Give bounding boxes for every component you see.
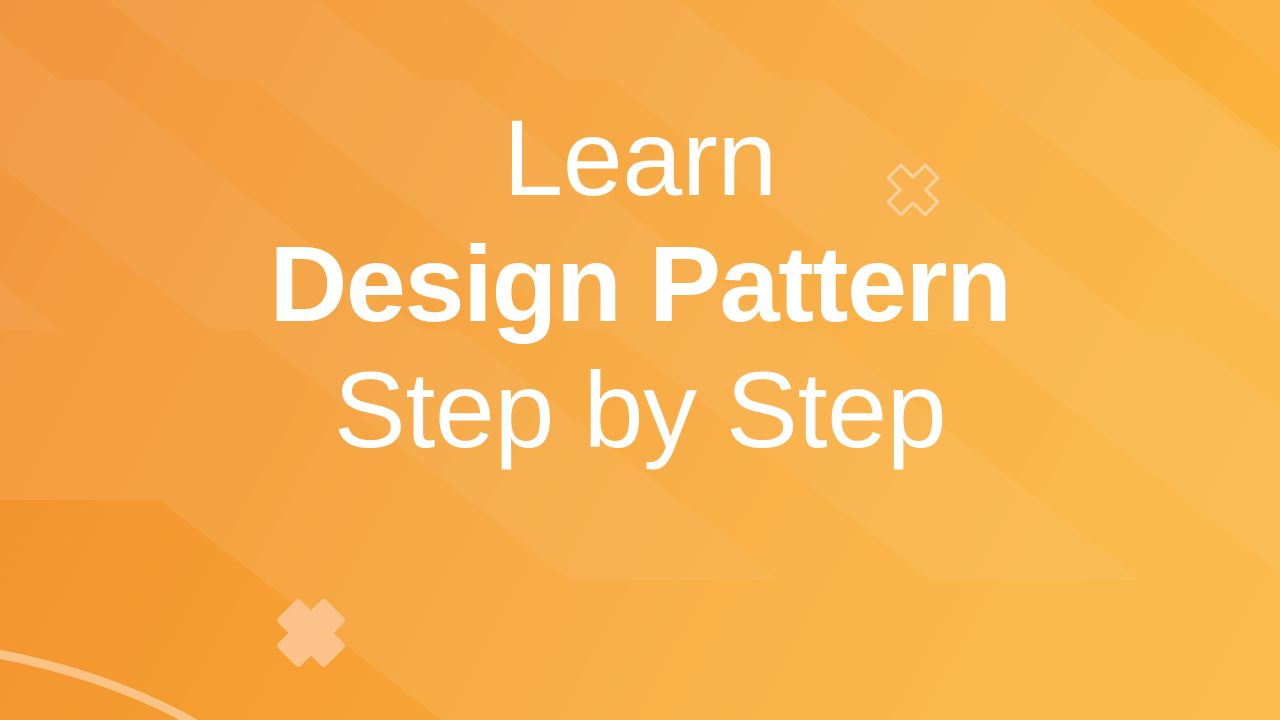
headline-block: Learn Design Pattern Step by Step <box>0 104 1280 464</box>
cross-x-filled-icon <box>272 594 350 672</box>
arc-curve-decoration <box>0 640 250 720</box>
headline-line-2: Design Pattern <box>0 230 1280 338</box>
headline-line-3: Step by Step <box>0 356 1280 464</box>
title-slide: Learn Design Pattern Step by Step <box>0 0 1280 720</box>
headline-line-1: Learn <box>0 104 1280 212</box>
